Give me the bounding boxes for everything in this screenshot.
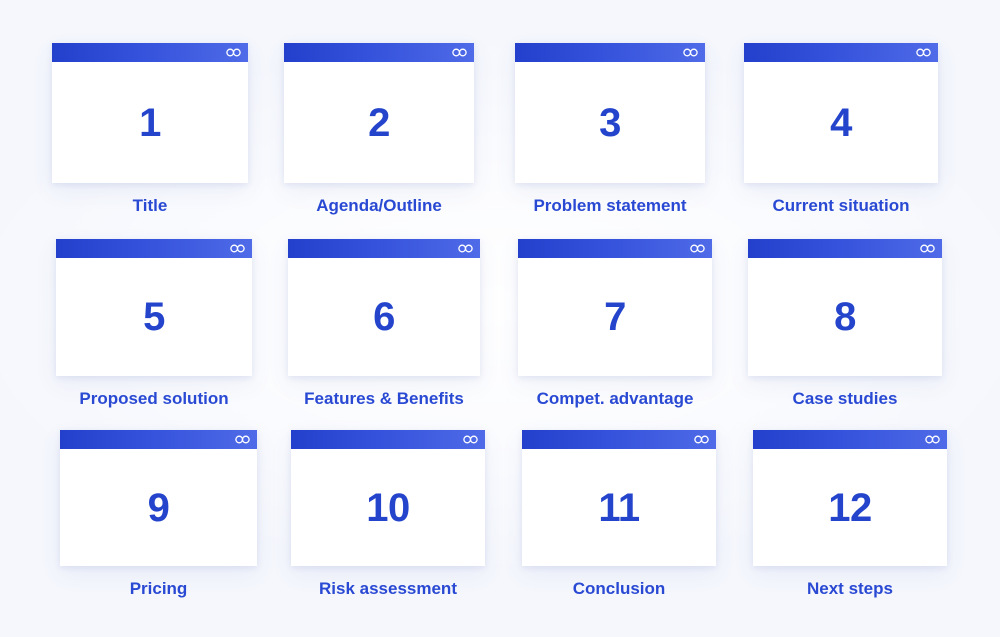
slide-number: 9 [148, 488, 170, 528]
slide-card-titlebar [515, 43, 705, 62]
slide-card[interactable]: 8 [748, 239, 942, 376]
slide-label: Agenda/Outline [284, 196, 474, 216]
slide-card-titlebar [753, 430, 947, 449]
slide-card-body: 10 [291, 449, 485, 566]
two-circles-icon[interactable] [916, 48, 931, 57]
slide-number: 7 [604, 297, 626, 337]
slide-card-titlebar [518, 239, 712, 258]
slide-card[interactable]: 3 [515, 43, 705, 183]
slide-card-body: 5 [56, 258, 252, 376]
slide-label: Next steps [753, 579, 947, 599]
slide-cell: 11Conclusion [522, 430, 716, 599]
slide-card[interactable]: 11 [522, 430, 716, 566]
slide-label: Problem statement [515, 196, 705, 216]
slide-label: Current situation [744, 196, 938, 216]
slide-number: 10 [366, 488, 410, 528]
slide-card[interactable]: 5 [56, 239, 252, 376]
slide-card-titlebar [60, 430, 257, 449]
slide-card-body: 9 [60, 449, 257, 566]
slide-card-titlebar [291, 430, 485, 449]
slide-card-titlebar [284, 43, 474, 62]
slide-card-body: 2 [284, 62, 474, 183]
slide-label: Compet. advantage [518, 389, 712, 409]
slide-label: Risk assessment [291, 579, 485, 599]
slide-label: Conclusion [522, 579, 716, 599]
slide-number: 12 [828, 488, 872, 528]
two-circles-icon[interactable] [458, 244, 473, 253]
slide-cell: 8Case studies [748, 239, 942, 409]
slide-number: 1 [139, 103, 161, 143]
slide-number: 3 [599, 103, 621, 143]
slide-card[interactable]: 6 [288, 239, 480, 376]
slide-card-titlebar [52, 43, 248, 62]
slide-number: 6 [373, 297, 395, 337]
slide-card-body: 3 [515, 62, 705, 183]
slide-label: Case studies [748, 389, 942, 409]
slide-card-body: 11 [522, 449, 716, 566]
two-circles-icon[interactable] [690, 244, 705, 253]
slide-card-titlebar [288, 239, 480, 258]
slide-number: 4 [830, 103, 852, 143]
slide-card-body: 8 [748, 258, 942, 376]
slide-card[interactable]: 12 [753, 430, 947, 566]
slide-cell: 6Features & Benefits [288, 239, 480, 409]
slide-cell: 4Current situation [744, 43, 938, 216]
slide-label: Pricing [60, 579, 257, 599]
two-circles-icon[interactable] [230, 244, 245, 253]
two-circles-icon[interactable] [452, 48, 467, 57]
slide-card[interactable]: 7 [518, 239, 712, 376]
slide-label: Title [52, 196, 248, 216]
slide-card-body: 6 [288, 258, 480, 376]
slide-label: Proposed solution [56, 389, 252, 409]
slide-cell: 10Risk assessment [291, 430, 485, 599]
slide-number: 11 [598, 488, 639, 528]
two-circles-icon[interactable] [226, 48, 241, 57]
slide-label: Features & Benefits [288, 389, 480, 409]
slide-cell: 5Proposed solution [56, 239, 252, 409]
slide-card-titlebar [748, 239, 942, 258]
slide-number: 8 [834, 297, 856, 337]
slide-card-body: 12 [753, 449, 947, 566]
slide-card-body: 7 [518, 258, 712, 376]
two-circles-icon[interactable] [920, 244, 935, 253]
slide-card[interactable]: 2 [284, 43, 474, 183]
slide-card-titlebar [56, 239, 252, 258]
two-circles-icon[interactable] [235, 435, 250, 444]
slide-number: 5 [143, 297, 165, 337]
slide-card[interactable]: 10 [291, 430, 485, 566]
two-circles-icon[interactable] [694, 435, 709, 444]
slide-cell: 2Agenda/Outline [284, 43, 474, 216]
slide-card[interactable]: 9 [60, 430, 257, 566]
slide-card[interactable]: 4 [744, 43, 938, 183]
slide-cell: 12Next steps [753, 430, 947, 599]
slide-card-titlebar [522, 430, 716, 449]
slide-card-titlebar [744, 43, 938, 62]
slide-card[interactable]: 1 [52, 43, 248, 183]
slide-cell: 1Title [52, 43, 248, 216]
slide-number: 2 [368, 103, 390, 143]
slide-cell: 9Pricing [60, 430, 257, 599]
slide-card-body: 4 [744, 62, 938, 183]
slide-cell: 7Compet. advantage [518, 239, 712, 409]
two-circles-icon[interactable] [683, 48, 698, 57]
slide-card-body: 1 [52, 62, 248, 183]
slide-cell: 3Problem statement [515, 43, 705, 216]
two-circles-icon[interactable] [463, 435, 478, 444]
slide-deck-grid: 1Title2Agenda/Outline3Problem statement4… [0, 0, 1000, 637]
two-circles-icon[interactable] [925, 435, 940, 444]
